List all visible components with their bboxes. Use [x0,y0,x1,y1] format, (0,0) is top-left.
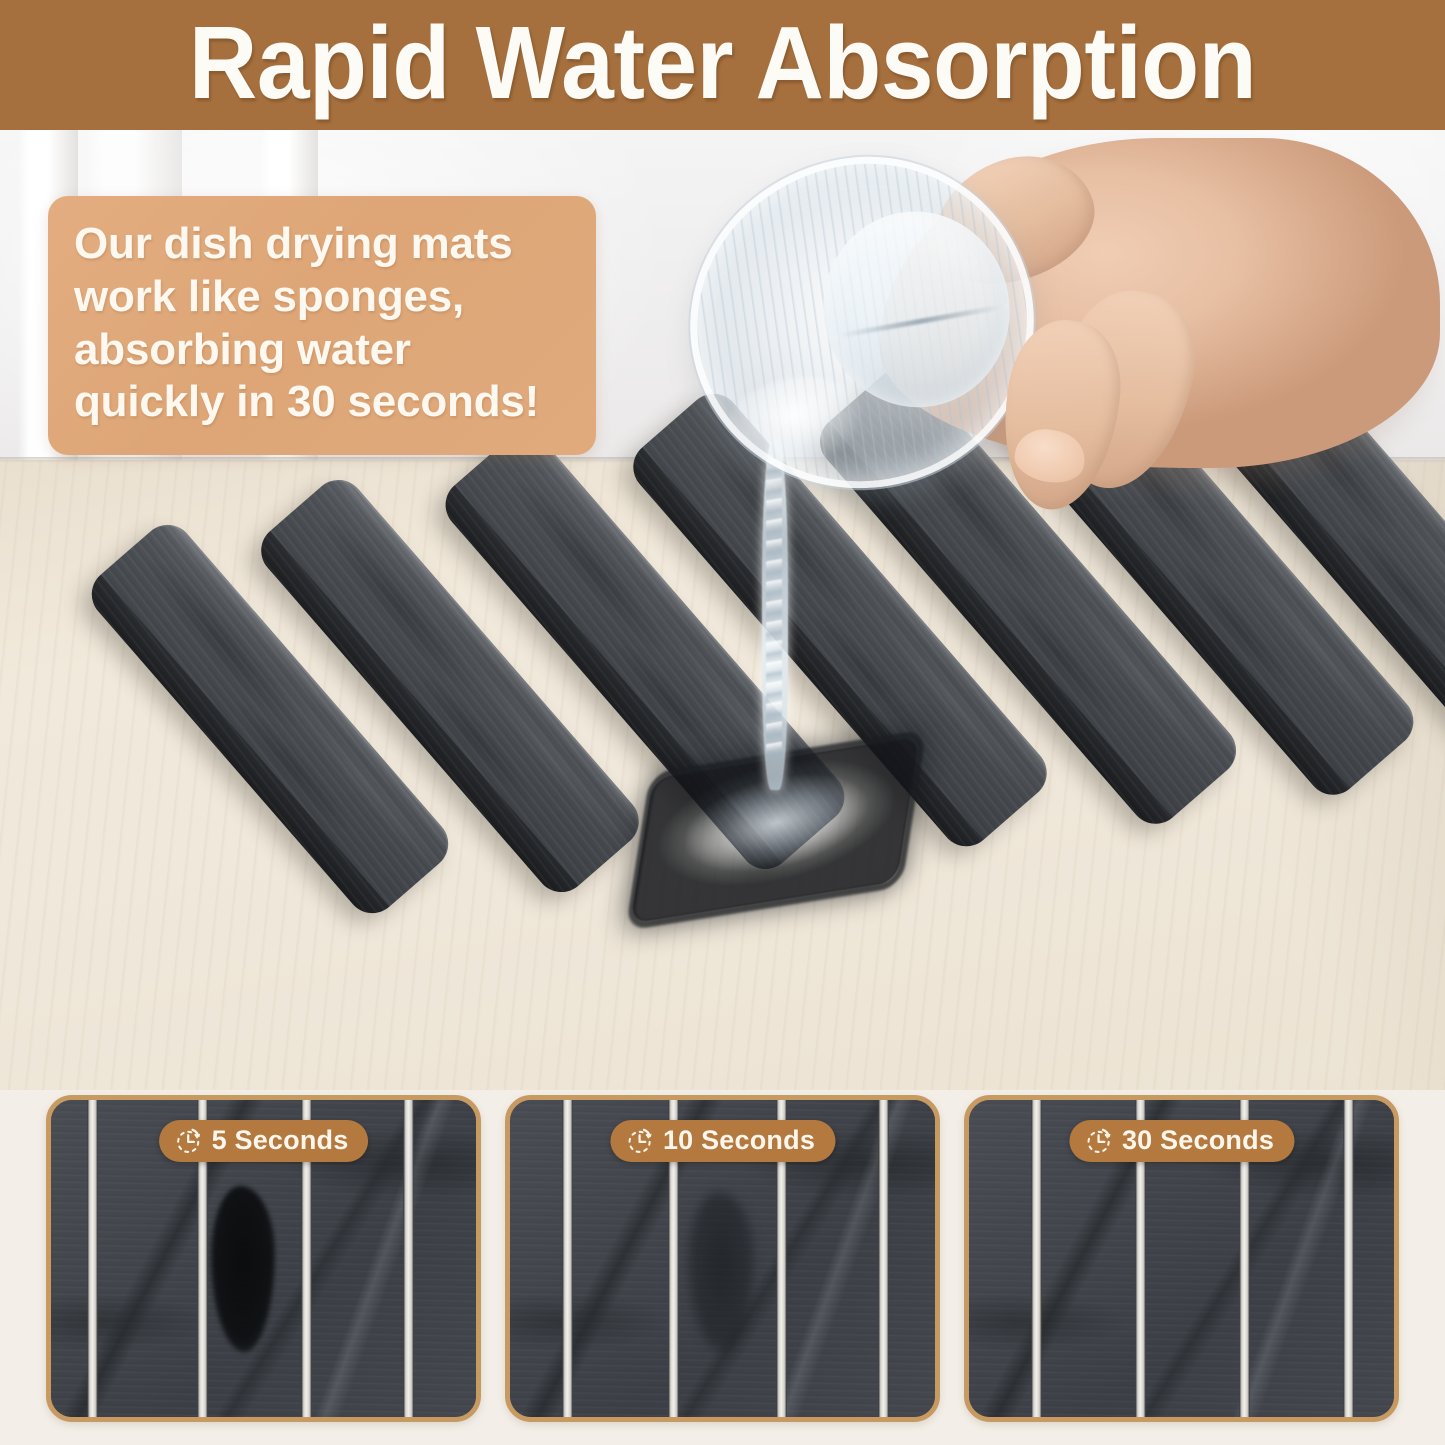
timer-badge-label: 10 Seconds [663,1127,815,1156]
clock-timer-icon [175,1127,203,1155]
panel-10-seconds: 10 Seconds [505,1095,940,1422]
timer-badge: 5 Seconds [159,1120,369,1162]
timer-badge-label: 30 Seconds [1122,1127,1274,1156]
mat-seam [1343,1095,1354,1422]
clock-timer-icon [626,1127,654,1155]
mat-seam [878,1095,889,1422]
absorption-timeline-panels: 5 Seconds 10 Seconds [0,1090,1445,1445]
mat-seam [403,1095,414,1422]
dish-drying-mat [60,430,1445,1070]
timer-badge-label: 5 Seconds [212,1127,349,1156]
timer-badge: 10 Seconds [610,1120,835,1162]
callout-line: quickly in 30 seconds! [74,376,570,429]
panel-30-seconds: 30 Seconds [964,1095,1399,1422]
product-feature-poster: Rapid Water Absorption [0,0,1445,1445]
callout-line: absorbing water [74,324,570,377]
callout-line: work like sponges, [74,271,570,324]
mat-seam [1031,1095,1042,1422]
callout-line: Our dish drying mats [74,218,570,271]
clock-timer-icon [1085,1127,1113,1155]
mat-seam [562,1095,573,1422]
feature-callout-box: Our dish drying mats work like sponges, … [48,196,596,455]
mat-seam [87,1095,98,1422]
header-banner: Rapid Water Absorption [0,0,1445,130]
drinking-glass [664,131,1060,516]
panel-5-seconds: 5 Seconds [46,1095,481,1422]
water-stream-highlight [766,460,782,760]
timer-badge: 30 Seconds [1069,1120,1294,1162]
page-title: Rapid Water Absorption [58,0,1387,130]
